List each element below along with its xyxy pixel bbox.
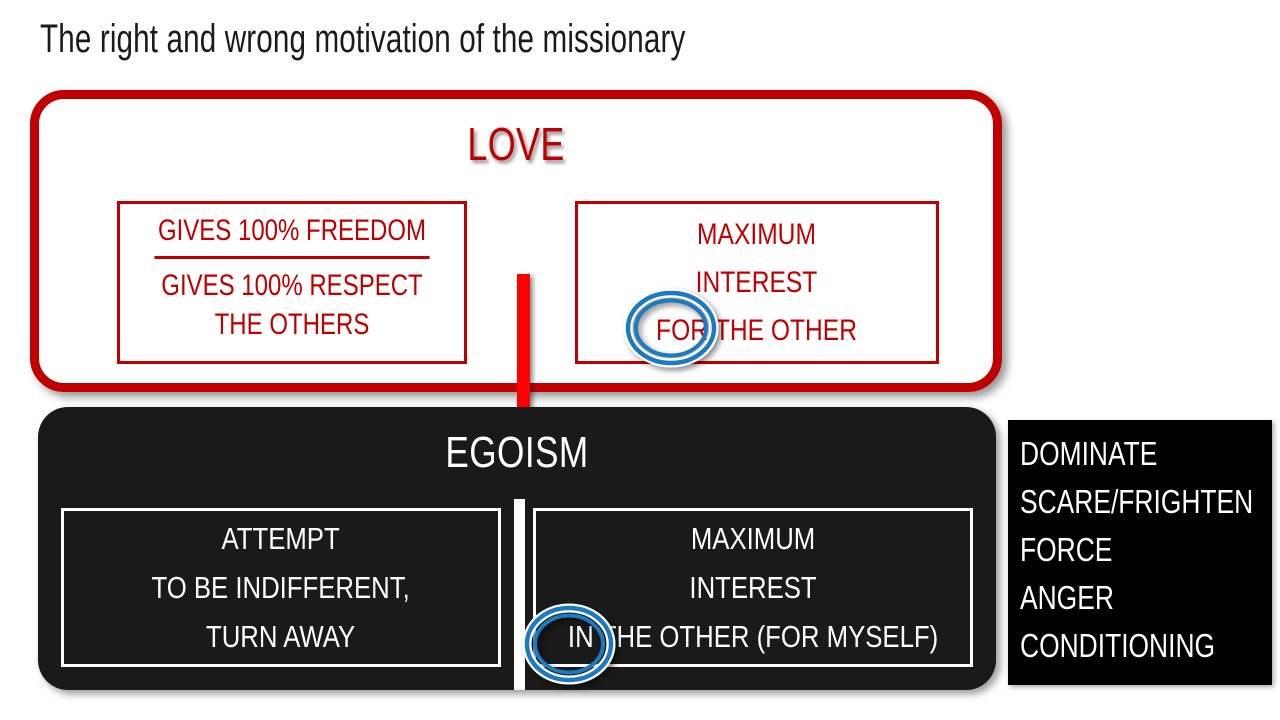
egoism-left-line-3: TURN AWAY [152,612,410,661]
egoism-right-line-1: MAXIMUM [568,514,938,563]
tactics-item-force: FORCE [1020,526,1222,574]
love-right-line-1: MAXIMUM [657,211,858,259]
tactics-item-conditioning: CONDITIONING [1020,622,1222,670]
egoism-right-text: MAXIMUM INTEREST IN THE OTHER (FOR MYSEL… [568,514,938,661]
love-right-line-3: FOR THE OTHER [657,307,858,355]
egoism-right-line-3: IN THE OTHER (FOR MYSELF) [568,612,938,661]
egoism-panel: EGOISM ATTEMPT TO BE INDIFFERENT, TURN A… [38,407,996,690]
egoism-left-line-1: ATTEMPT [152,514,410,563]
love-left-line-2: GIVES 100% RESPECT [154,266,429,305]
love-right-line-2: INTEREST [657,259,858,307]
love-left-box: GIVES 100% FREEDOM GIVES 100% RESPECT TH… [117,201,467,364]
egoism-right-line-3-rest: THE OTHER (FOR MYSELF) [601,612,938,661]
egoism-left-line-2: TO BE INDIFFERENT, [152,563,410,612]
love-left-line-1: GIVES 100% FREEDOM [154,204,429,259]
tactics-item-scare: SCARE/FRIGHTEN [1020,478,1222,526]
love-heading: LOVE [144,119,888,169]
love-panel: LOVE GIVES 100% FREEDOM GIVES 100% RESPE… [30,90,1002,392]
love-left-lower-cell: GIVES 100% RESPECT THE OTHERS [154,259,429,350]
love-right-highlight-word: FOR [657,307,709,355]
tactics-list-box: DOMINATE SCARE/FRIGHTEN FORCE ANGER COND… [1008,420,1272,685]
egoism-left-box: ATTEMPT TO BE INDIFFERENT, TURN AWAY [61,508,501,667]
egoism-vertical-divider [514,499,525,690]
love-left-line-3: THE OTHERS [154,305,429,344]
page-title: The right and wrong motivation of the mi… [40,15,685,63]
egoism-heading: EGOISM [134,429,900,477]
love-right-box: MAXIMUM INTEREST FOR THE OTHER [575,201,939,364]
tactics-item-dominate: DOMINATE [1020,430,1222,478]
egoism-right-highlight-word: IN [568,612,594,661]
egoism-left-text: ATTEMPT TO BE INDIFFERENT, TURN AWAY [152,514,410,661]
tactics-item-anger: ANGER [1020,574,1222,622]
love-right-text: MAXIMUM INTEREST FOR THE OTHER [657,211,858,355]
love-right-line-3-rest: THE OTHER [715,307,857,355]
egoism-right-line-2: INTEREST [568,563,938,612]
egoism-right-box: MAXIMUM INTEREST IN THE OTHER (FOR MYSEL… [533,508,973,667]
